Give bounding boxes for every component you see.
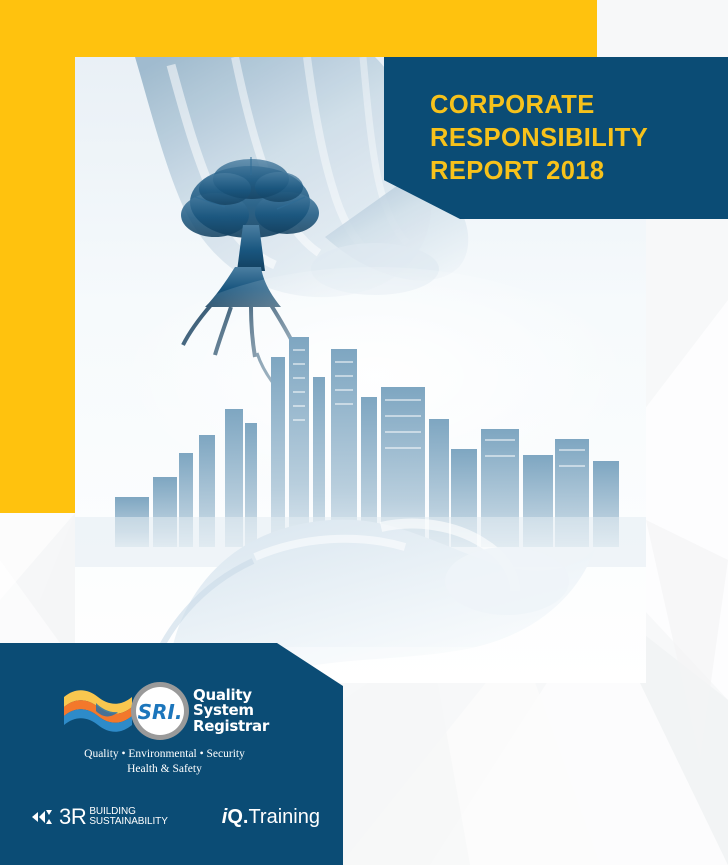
title-line-1: CORPORATE [430,89,720,122]
logo-iq-mark-letter: Q [227,806,243,828]
sri-tagline: Quality • Environmental • Security Healt… [62,747,267,777]
title-line-2: RESPONSIBILITY [430,122,720,155]
sri-tagline-line-1: Quality • Environmental • Security [62,747,267,762]
logo-iq-word: Training [248,806,320,828]
sri-logo-row: SRI. Quality System Registrar [62,681,272,741]
sri-word-registrar: Registrar [193,719,269,734]
sri-wordmark: Quality System Registrar [193,688,269,734]
triangle-pinwheel-icon [32,806,58,828]
sri-circle-badge-icon: SRI. [130,681,190,741]
logo-3r-sub-line-2: SUSTAINABILITY [89,817,167,828]
title-block: CORPORATE RESPONSIBILITY REPORT 2018 [384,57,728,219]
partner-logos: 3R BUILDING SUSTAINABILITY iQ.Training [32,806,320,828]
yellow-band-left [0,0,75,513]
svg-text:SRI.: SRI. [138,700,183,724]
logo-3r-subtitle: BUILDING SUSTAINABILITY [89,807,167,828]
yellow-band-top [0,0,597,57]
report-cover-page: CORPORATE RESPONSIBILITY REPORT 2018 [0,0,728,865]
logo-iq-training: iQ.Training [222,807,320,827]
page-title: CORPORATE RESPONSIBILITY REPORT 2018 [430,89,720,188]
sri-logo-lockup: SRI. Quality System Registrar Quality • … [62,681,272,777]
sri-tagline-line-2: Health & Safety [62,762,267,777]
title-line-3: REPORT 2018 [430,155,720,188]
logo-3r-word: 3R [59,806,86,828]
logo-3r-building-sustainability: 3R BUILDING SUSTAINABILITY [32,806,168,828]
waving-flag-icon [62,683,136,739]
